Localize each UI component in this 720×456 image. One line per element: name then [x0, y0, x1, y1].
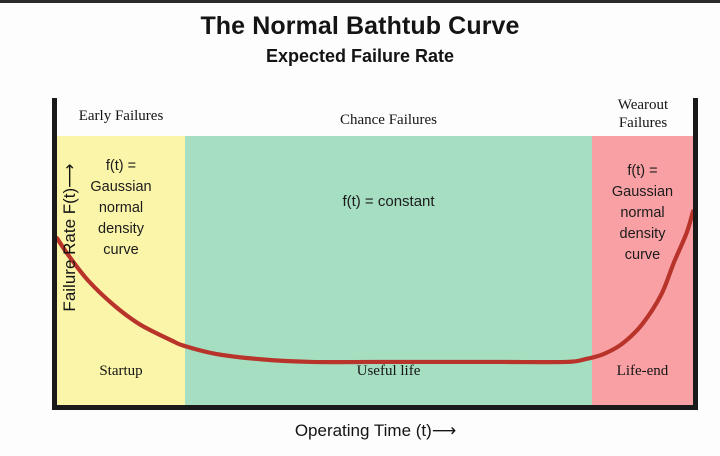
- plot-area: Early Failures Chance Failures Wearout F…: [52, 98, 698, 410]
- plot-right-border: [693, 98, 698, 410]
- region-footer-chance: Useful life: [185, 363, 592, 380]
- y-axis-title-text: Failure Rate F(t): [60, 188, 79, 312]
- region-header-wearout: Wearout Failures: [588, 96, 698, 132]
- region-footer-wearout: Life-end: [592, 363, 693, 380]
- region-header-chance: Chance Failures: [185, 111, 592, 129]
- y-axis-title: Failure Rate F(t)⟶: [60, 123, 80, 353]
- y-axis-line: [52, 98, 57, 410]
- x-axis-arrow-icon: ⟶: [432, 421, 455, 441]
- y-axis-arrow-icon: ⟶: [60, 164, 80, 187]
- x-axis-title: Operating Time (t)⟶: [52, 421, 698, 441]
- x-axis-title-text: Operating Time (t): [295, 421, 432, 440]
- bathtub-curve-figure: The Normal Bathtub Curve Expected Failur…: [0, 0, 720, 456]
- figure-title-block: The Normal Bathtub Curve Expected Failur…: [0, 11, 720, 68]
- x-axis-line: [52, 405, 698, 410]
- region-note-wearout: f(t) = Gaussian normal density curve: [592, 161, 693, 266]
- region-footer-early: Startup: [57, 363, 185, 380]
- figure-main-title: The Normal Bathtub Curve: [0, 11, 720, 41]
- region-note-chance: f(t) = constant: [185, 191, 592, 212]
- figure-subtitle: Expected Failure Rate: [0, 44, 720, 68]
